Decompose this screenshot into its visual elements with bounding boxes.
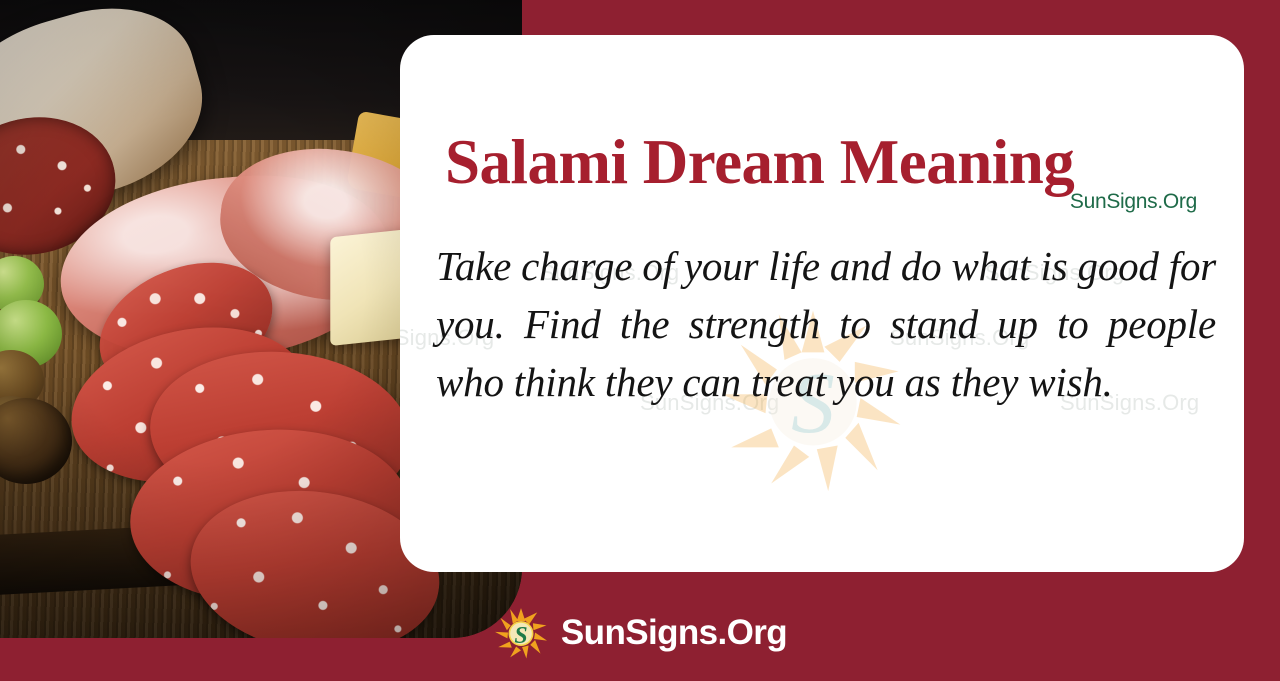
poster-canvas: SunSigns.Org SunSigns.Org SunSigns.Org S… [0, 0, 1280, 681]
footer-brand[interactable]: S SunSigns.Org [0, 607, 1280, 659]
site-tag: SunSigns.Org [1070, 190, 1197, 214]
page-title: Salami Dream Meaning [445, 130, 1205, 194]
dream-meaning-quote: Take charge of your life and do what is … [436, 237, 1216, 412]
sun-logo-icon: S [493, 607, 549, 659]
brand-text: SunSigns.Org [561, 613, 787, 653]
content-card: SunSigns.Org SunSigns.Org SunSigns.Org S… [400, 35, 1244, 572]
sun-logo-svg: S [493, 607, 549, 659]
logo-letter: S [514, 623, 527, 649]
